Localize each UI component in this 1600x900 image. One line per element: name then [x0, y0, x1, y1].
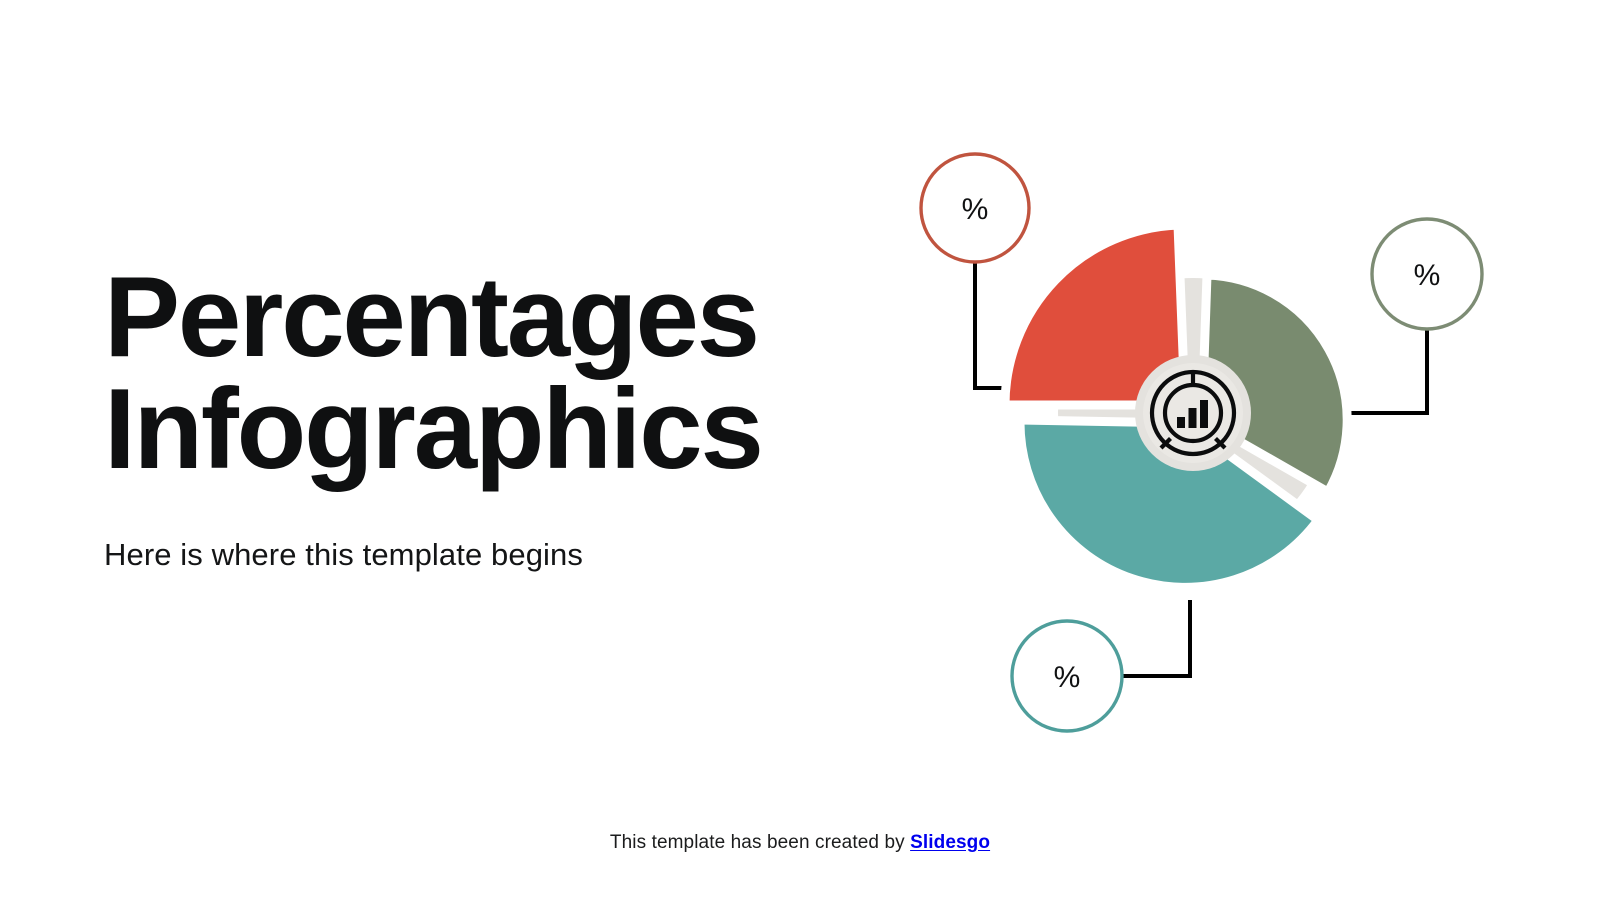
callout-bubble-red[interactable]: % — [921, 154, 1029, 262]
title-block: Percentages Infographics Here is where t… — [104, 262, 874, 573]
callout-bubble-red-label: % — [962, 193, 989, 226]
slide-canvas: Percentages Infographics Here is where t… — [0, 0, 1600, 900]
callout-bubble-teal-label: % — [1054, 661, 1081, 694]
slidesgo-link[interactable]: Slidesgo — [910, 832, 990, 853]
page-subtitle: Here is where this template begins — [104, 537, 874, 573]
callout-bubble-teal[interactable]: % — [1012, 621, 1122, 731]
percentages-infographic: % % % — [880, 120, 1540, 760]
page-title: Percentages Infographics — [104, 262, 874, 485]
callout-bubble-green-label: % — [1414, 259, 1441, 292]
footer-credit: This template has been created by Slides… — [0, 832, 1600, 854]
footer-credit-text: This template has been created by — [610, 832, 910, 853]
connector-teal — [1120, 600, 1190, 676]
callout-bubble-green[interactable]: % — [1372, 219, 1482, 329]
